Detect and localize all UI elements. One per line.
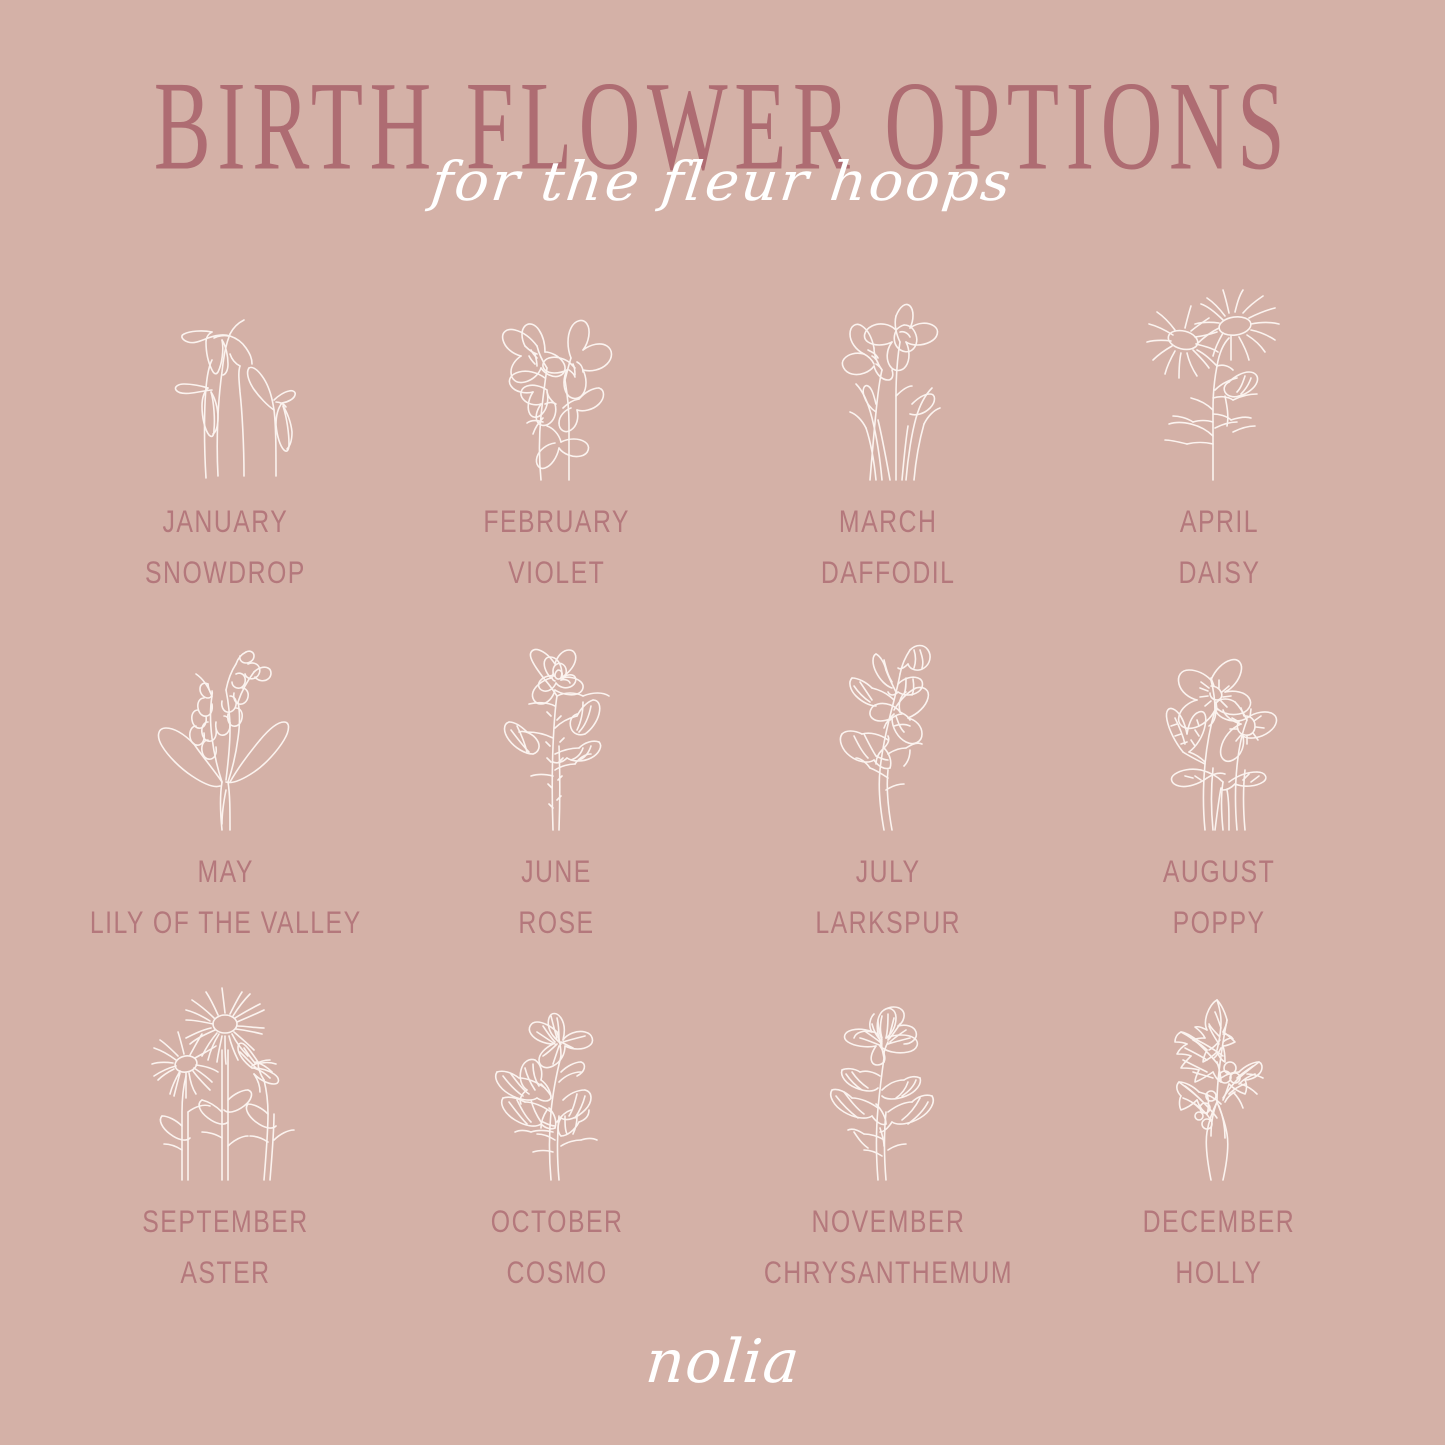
birth-flower-card-february[interactable]: FEBRUARY VIOLET bbox=[391, 280, 722, 630]
daffodil-icon bbox=[788, 280, 988, 485]
card-labels: SEPTEMBER ASTER bbox=[135, 1199, 316, 1289]
cosmo-icon bbox=[457, 980, 657, 1185]
card-labels: JULY LARKSPUR bbox=[809, 849, 967, 939]
birth-flower-card-september[interactable]: SEPTEMBER ASTER bbox=[60, 980, 391, 1330]
card-labels: AUGUST POPPY bbox=[1158, 849, 1280, 939]
larkspur-icon bbox=[788, 630, 988, 835]
poppy-icon bbox=[1119, 630, 1319, 835]
month-label: MARCH bbox=[821, 499, 956, 544]
birth-flower-card-december[interactable]: DECEMBER HOLLY bbox=[1054, 980, 1385, 1330]
month-label: FEBRUARY bbox=[484, 499, 631, 544]
flower-label: VIOLET bbox=[484, 550, 631, 595]
holly-icon bbox=[1119, 980, 1319, 1185]
page-subtitle: for the fleur hoops bbox=[428, 150, 1016, 213]
flower-label: DAFFODIL bbox=[821, 550, 956, 595]
card-labels: OCTOBER COSMO bbox=[485, 1199, 629, 1289]
card-labels: JUNE ROSE bbox=[515, 849, 598, 939]
card-labels: NOVEMBER CHRYSANTHEMUM bbox=[753, 1199, 1024, 1289]
snowdrop-icon bbox=[126, 280, 326, 485]
month-label: AUGUST bbox=[1163, 849, 1275, 894]
card-labels: FEBRUARY VIOLET bbox=[477, 499, 636, 589]
flower-label: LILY OF THE VALLEY bbox=[90, 900, 362, 945]
card-labels: APRIL DAISY bbox=[1175, 499, 1264, 589]
flower-label: ROSE bbox=[519, 900, 595, 945]
birth-flower-card-april[interactable]: APRIL DAISY bbox=[1054, 280, 1385, 630]
card-labels: MARCH DAFFODIL bbox=[815, 499, 961, 589]
poster-header: BIRTH FLOWER OPTIONS for the fleur hoops bbox=[0, 0, 1445, 270]
month-label: OCTOBER bbox=[491, 1199, 624, 1244]
card-labels: MAY LILY OF THE VALLEY bbox=[78, 849, 373, 939]
birth-flower-card-may[interactable]: MAY LILY OF THE VALLEY bbox=[60, 630, 391, 980]
flower-label: HOLLY bbox=[1143, 1250, 1296, 1295]
birth-flower-card-november[interactable]: NOVEMBER CHRYSANTHEMUM bbox=[723, 980, 1054, 1330]
month-label: JANUARY bbox=[145, 499, 306, 544]
month-label: NOVEMBER bbox=[764, 1199, 1013, 1244]
daisy-icon bbox=[1119, 280, 1319, 485]
flower-label: LARKSPUR bbox=[815, 900, 961, 945]
flower-label: CHRYSANTHEMUM bbox=[764, 1250, 1013, 1295]
birth-flower-options-poster: BIRTH FLOWER OPTIONS for the fleur hoops bbox=[0, 0, 1445, 1445]
birth-flower-card-january[interactable]: JANUARY SNOWDROP bbox=[60, 280, 391, 630]
month-label: MAY bbox=[90, 849, 362, 894]
card-labels: DECEMBER HOLLY bbox=[1136, 1199, 1302, 1289]
month-label: DECEMBER bbox=[1143, 1199, 1296, 1244]
violet-icon bbox=[457, 280, 657, 485]
month-label: APRIL bbox=[1178, 499, 1260, 544]
page-subtitle-wrap: for the fleur hoops bbox=[0, 150, 1445, 250]
month-label: JULY bbox=[815, 849, 961, 894]
birth-flower-card-june[interactable]: JUNE ROSE bbox=[391, 630, 722, 980]
month-label: JUNE bbox=[519, 849, 595, 894]
flower-label: DAISY bbox=[1178, 550, 1260, 595]
birth-flower-card-july[interactable]: JULY LARKSPUR bbox=[723, 630, 1054, 980]
rose-icon bbox=[457, 630, 657, 835]
lily-of-the-valley-icon bbox=[126, 630, 326, 835]
birth-flower-grid: JANUARY SNOWDROP bbox=[60, 280, 1385, 1330]
birth-flower-card-august[interactable]: AUGUST POPPY bbox=[1054, 630, 1385, 980]
birth-flower-card-october[interactable]: OCTOBER COSMO bbox=[391, 980, 722, 1330]
flower-label: POPPY bbox=[1163, 900, 1275, 945]
month-label: SEPTEMBER bbox=[142, 1199, 308, 1244]
brand-logo-text: nolia bbox=[642, 1327, 802, 1397]
brand-logo: nolia bbox=[0, 1327, 1445, 1397]
chrysanthemum-icon bbox=[788, 980, 988, 1185]
birth-flower-card-march[interactable]: MARCH DAFFODIL bbox=[723, 280, 1054, 630]
flower-label: SNOWDROP bbox=[145, 550, 306, 595]
aster-icon bbox=[126, 980, 326, 1185]
flower-label: COSMO bbox=[491, 1250, 624, 1295]
card-labels: JANUARY SNOWDROP bbox=[138, 499, 313, 589]
flower-label: ASTER bbox=[142, 1250, 308, 1295]
